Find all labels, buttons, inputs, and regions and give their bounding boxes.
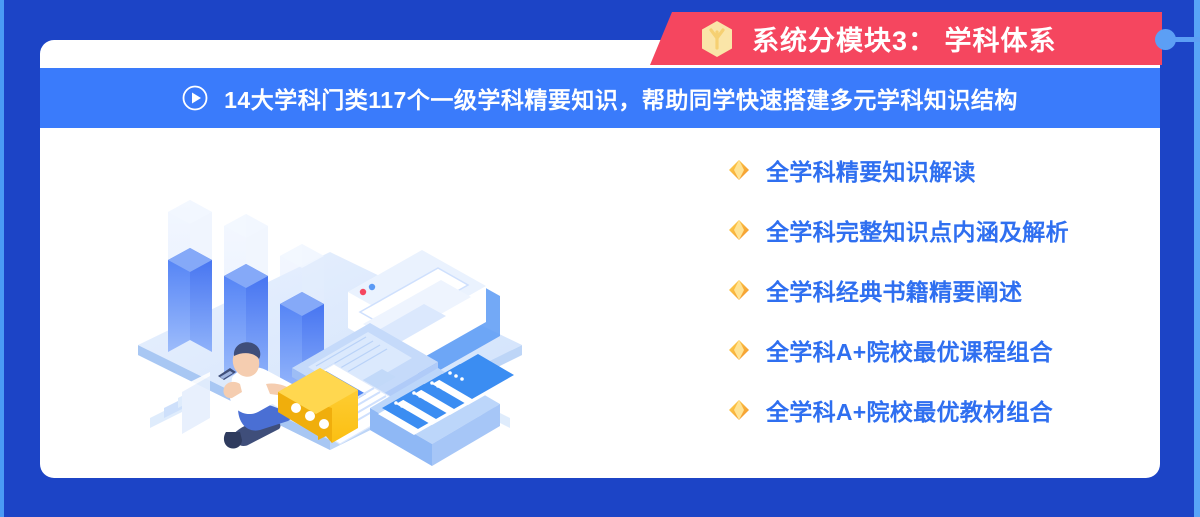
subtitle-bar: 14大学科门类117个一级学科精要知识，帮助同学快速搭建多元学科知识结构 [40,68,1160,128]
play-circle-icon [182,85,208,111]
diamond-icon [728,279,750,301]
illustration-svg [120,140,540,470]
left-edge-strip [0,0,4,517]
subtitle-text: 14大学科门类117个一级学科精要知识，帮助同学快速搭建多元学科知识结构 [224,81,1018,115]
list-item-label: 全学科经典书籍精要阐述 [766,273,1022,307]
list-item[interactable]: 全学科完整知识点内涵及解析 [728,212,1148,248]
list-item[interactable]: 全学科A+院校最优教材组合 [728,392,1148,428]
stairs-left [150,372,210,434]
header-title: 系统分模块3： 学科体系 [752,19,1057,58]
hexagon-y-icon [700,20,734,58]
header-banner: 系统分模块3： 学科体系 [650,12,1162,65]
list-item-label: 全学科A+院校最优课程组合 [766,333,1053,367]
banner-line [1172,37,1200,42]
diamond-icon [728,399,750,421]
list-item-label: 全学科精要知识解读 [766,153,976,187]
list-item[interactable]: 全学科经典书籍精要阐述 [728,272,1148,308]
feature-list: 全学科精要知识解读 全学科完整知识点内涵及解析 全学科经典书籍精要阐述 [728,152,1148,428]
list-item-label: 全学科A+院校最优教材组合 [766,393,1053,427]
list-item-label: 全学科完整知识点内涵及解析 [766,213,1069,247]
list-item[interactable]: 全学科精要知识解读 [728,152,1148,188]
diamond-icon [728,159,750,181]
diamond-icon [728,219,750,241]
illustration [120,140,540,470]
list-item[interactable]: 全学科A+院校最优课程组合 [728,332,1148,368]
diamond-icon [728,339,750,361]
page-root: 全学科精要知识解读 全学科完整知识点内涵及解析 全学科经典书籍精要阐述 [0,0,1200,517]
right-edge-strip [1194,0,1200,517]
